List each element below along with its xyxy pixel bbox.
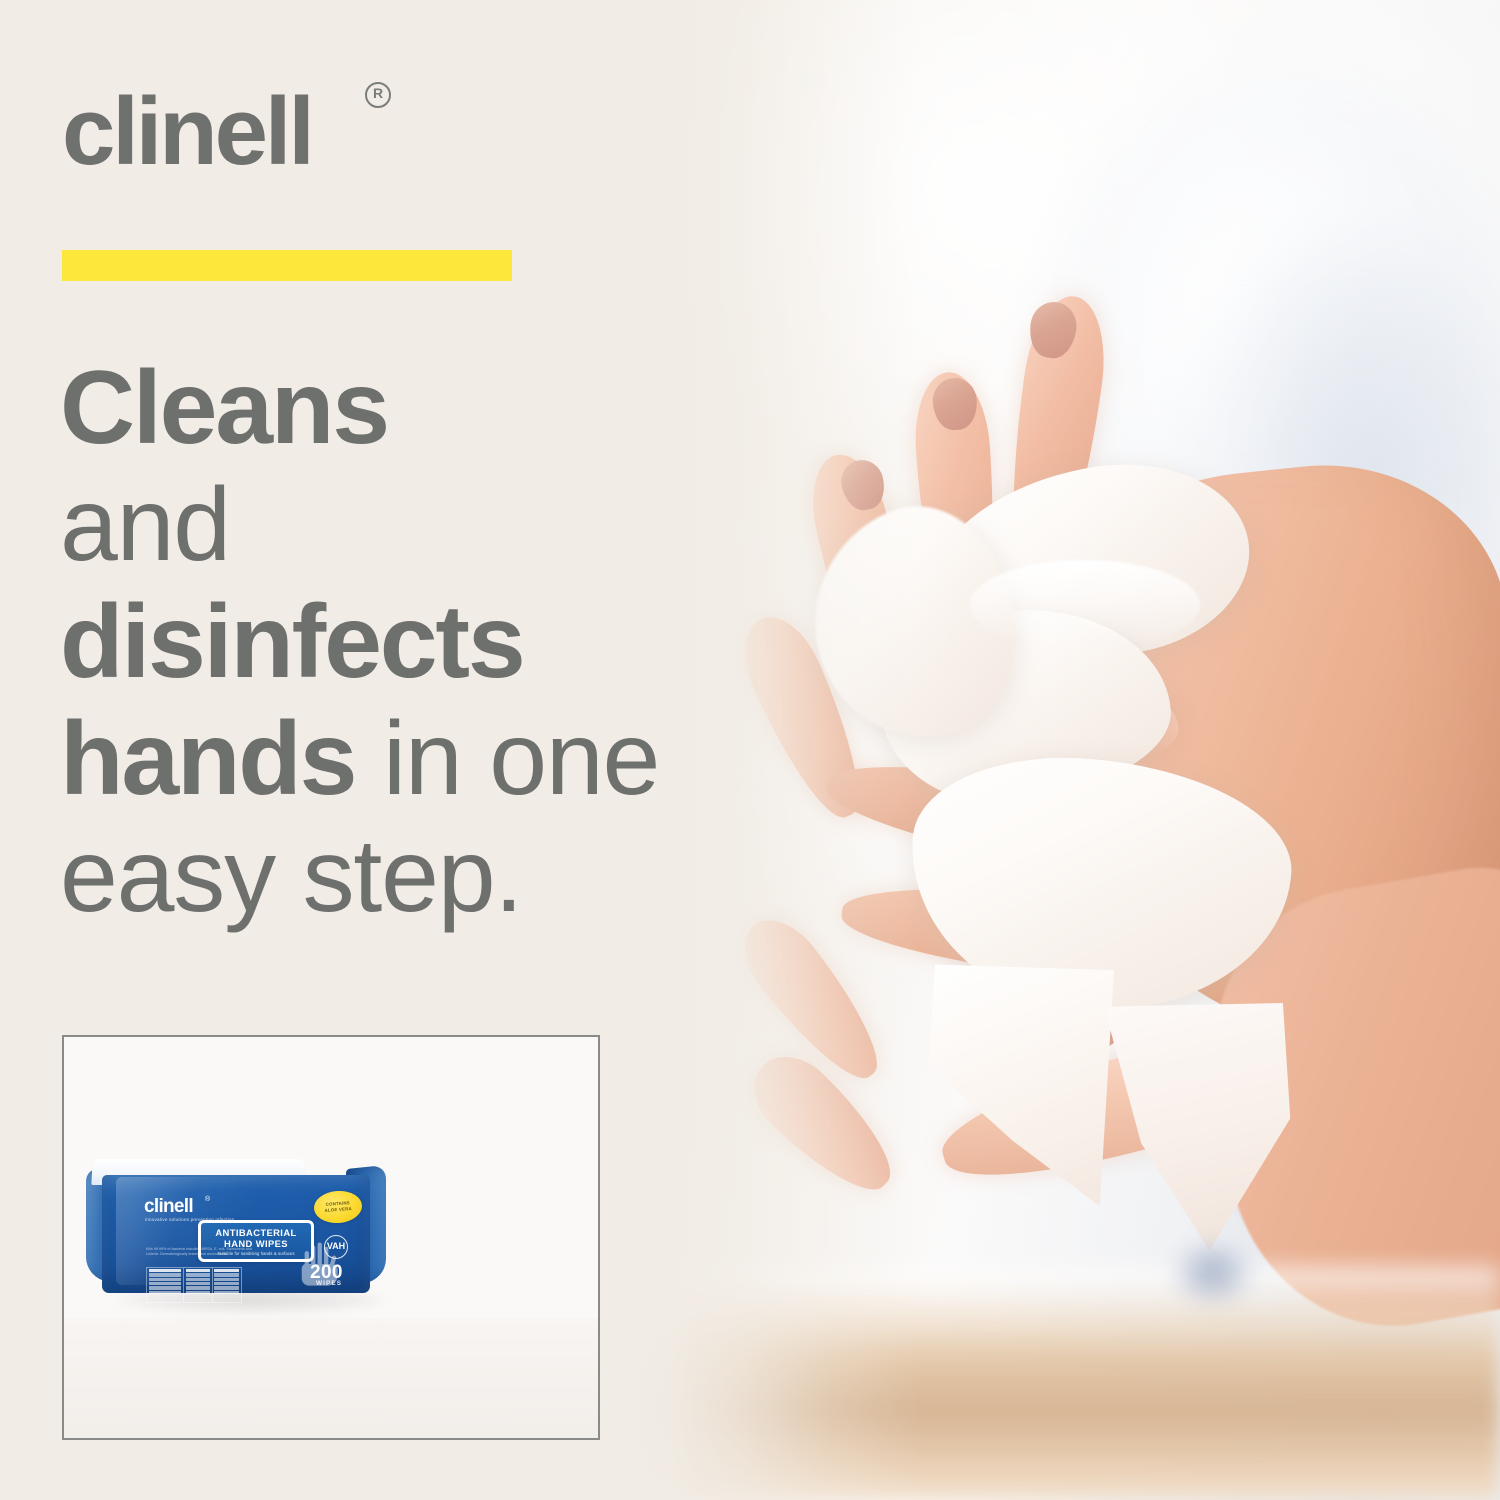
pack-table-cell [149,1273,182,1276]
headline-line-3: disinfects [60,584,780,701]
pack-table-cell [214,1291,239,1294]
headline-easy-step: easy step. [60,818,522,934]
pack-table-cell [149,1278,182,1281]
aloe-badge-line-2: ALOE VERA [324,1206,352,1214]
pack-body: clinell ® innovative solutions preventin… [102,1175,370,1293]
pack-table-cell [214,1273,239,1276]
pack-table-column-organism [147,1268,184,1302]
headline-in-one: in one [355,701,659,817]
pack-table-header-cell [186,1269,210,1272]
pack-table-cell [186,1273,210,1276]
pack-table-cell [186,1286,210,1289]
pack-table-cell [214,1278,239,1281]
pack-table-column-log [213,1268,241,1302]
photo-blue-accent [1176,1244,1250,1302]
headline-line-2: and [60,467,780,584]
registered-trademark-icon: R [365,82,391,108]
pack-table-column-time [184,1268,212,1302]
headline-line-4: hands in one [60,701,780,818]
pack-table-cell [186,1291,210,1294]
headline-and: and [60,467,230,583]
pack-table-header-cell [214,1269,239,1272]
headline-disinfects: disinfects [60,584,523,700]
pack-table-cell [149,1282,182,1285]
handprint-icon [296,1241,342,1287]
headline-line-1: Cleans [60,350,780,467]
page-title: Cleans and disinfects hands in one easy … [60,350,780,935]
wipe-crease-highlight [970,560,1200,650]
pack-table-cell [149,1286,182,1289]
pack-brand-logo: clinell [144,1197,193,1216]
inset-floor [64,1318,598,1438]
pack-table-cell [214,1282,239,1285]
headline-line-5: easy step. [60,818,780,935]
headline-cleans: Cleans [60,350,388,466]
pack-registered-trademark-icon: ® [205,1196,210,1203]
brand-logo: clinell [62,84,312,180]
product-inset: clinell ® innovative solutions preventin… [62,1035,600,1440]
pack-table-cell [186,1278,210,1281]
pack-table-header-cell [149,1269,182,1272]
headline-hands: hands [60,701,355,817]
pack-description: Kills 99.99% of bacteria including MRSA,… [146,1247,254,1257]
pack-table-cell [186,1282,210,1285]
aloe-vera-badge: CONTAINS ALOE VERA [313,1189,363,1224]
accent-bar [62,250,512,281]
wipe-hanging-left [924,955,1127,1215]
product-advertisement: clinell R Cleans and disinfects hands in… [0,0,1500,1500]
pack-table-cell [149,1291,182,1294]
pack-table-cell [214,1286,239,1289]
pack-efficacy-table [146,1267,242,1303]
pack-label-antibacterial: ANTIBACTERIAL [215,1227,296,1238]
product-pack: clinell ® innovative solutions preventin… [86,1159,386,1299]
